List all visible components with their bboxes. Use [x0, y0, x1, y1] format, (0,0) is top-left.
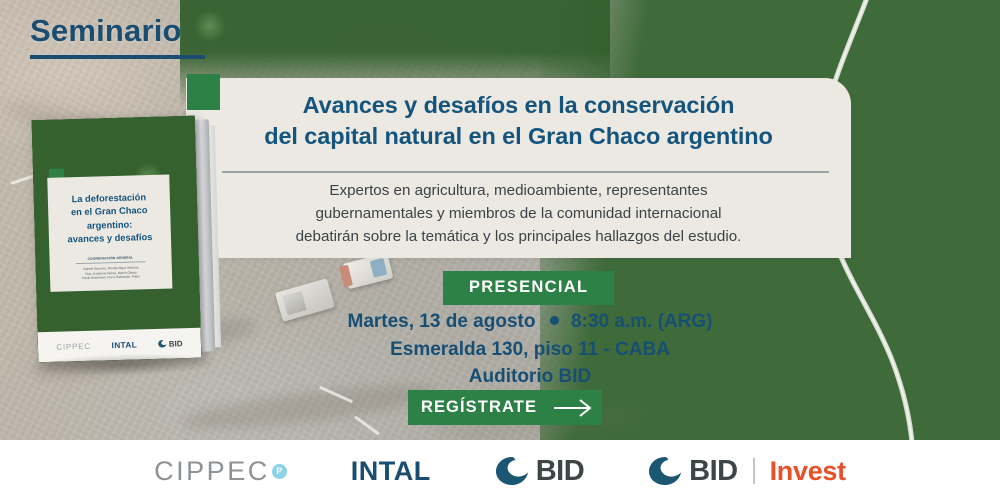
kicker-underline — [30, 55, 205, 59]
register-button[interactable]: REGÍSTRATE — [408, 390, 602, 425]
register-button-label: REGÍSTRATE — [408, 398, 546, 417]
book-credits: Gabriel Sánchez, Nicolás Sigal, Mariana … — [58, 265, 164, 282]
modality-badge: PRESENCIAL — [443, 271, 614, 305]
kicker-block: Seminario — [30, 14, 205, 59]
event-description: Expertos en agricultura, medioambiente, … — [186, 179, 851, 248]
bullet-separator-icon — [550, 316, 559, 325]
arrow-right-icon — [546, 398, 602, 418]
sponsor-logo-bar: CIPPEC P INTAL BID BID Invest — [0, 440, 1000, 502]
event-time: 8:30 a.m. (ARG) — [571, 311, 712, 332]
event-datetime-row: Martes, 13 de agosto 8:30 a.m. (ARG) — [250, 308, 810, 336]
book-title-panel: La deforestación en el Gran Chaco argent… — [47, 175, 172, 293]
cippec-wordmark: CIPPEC — [154, 456, 270, 487]
book-title: La deforestación en el Gran Chaco argent… — [56, 191, 163, 248]
kicker-label: Seminario — [30, 14, 205, 49]
event-title-line-2: del capital natural en el Gran Chaco arg… — [200, 121, 837, 152]
logo-cippec: CIPPEC P — [154, 456, 287, 487]
bid-wordmark: BID — [536, 455, 584, 488]
event-date: Martes, 13 de agosto — [348, 311, 536, 332]
event-address: Esmeralda 130, piso 11 - CABA — [250, 336, 810, 364]
book-cippec-logo: CIPPEC — [56, 341, 91, 351]
event-description-line-3: debatirán sobre la temática y los princi… — [216, 225, 821, 248]
book-title-line-4: avances y desafíos — [57, 231, 163, 247]
book-intal-logo: INTAL — [111, 340, 137, 350]
bid-globe-icon — [495, 456, 529, 486]
title-separator-rule — [222, 171, 829, 173]
logo-bid-invest: BID Invest — [648, 455, 846, 488]
bid-globe-icon — [648, 456, 682, 486]
book-bid-logo: BID — [158, 339, 183, 349]
book-credits-rule — [76, 261, 146, 264]
logo-bid: BID — [495, 455, 584, 488]
bid-globe-icon — [158, 340, 167, 348]
intal-wordmark: INTAL — [351, 456, 431, 487]
report-book-mockup: La deforestación en el Gran Chaco argent… — [32, 116, 202, 362]
main-content-card: Avances y desafíos en la conservación de… — [186, 78, 851, 258]
bid-invest-divider — [753, 458, 755, 484]
arrow-right-glyph — [553, 398, 595, 418]
event-details: Martes, 13 de agosto 8:30 a.m. (ARG) Esm… — [250, 308, 810, 391]
event-description-line-1: Expertos en agricultura, medioambiente, … — [216, 179, 821, 202]
bid-invest-suffix: Invest — [770, 456, 846, 487]
event-venue: Auditorio BID — [250, 363, 810, 391]
book-cover: La deforestación en el Gran Chaco argent… — [32, 116, 202, 362]
seminar-promo-banner: Seminario Avances y desafíos en la conse… — [0, 0, 1000, 502]
book-bid-label: BID — [169, 339, 183, 348]
book-credits-heading: COORDINACIÓN GENERAL — [57, 255, 163, 262]
event-title-line-1: Avances y desafíos en la conservación — [200, 90, 837, 121]
event-title: Avances y desafíos en la conservación de… — [186, 90, 851, 151]
bid-invest-wordmark: BID — [689, 455, 737, 488]
event-description-line-2: gubernamentales y miembros de la comunid… — [216, 202, 821, 225]
logo-intal: INTAL — [351, 456, 431, 487]
cippec-dot-icon: P — [272, 464, 287, 479]
green-accent-square — [187, 74, 220, 110]
